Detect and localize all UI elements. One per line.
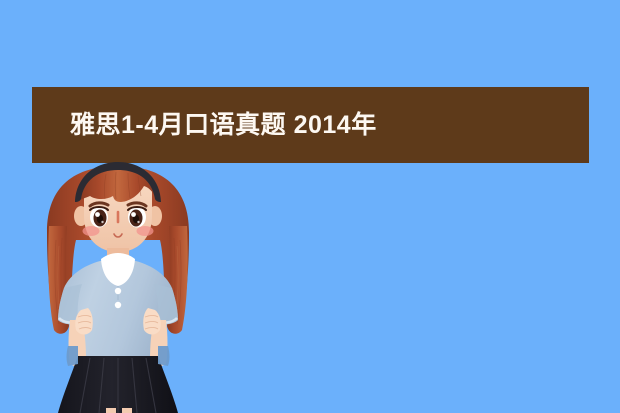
skirt [58, 356, 178, 413]
page-root: 雅思1-4月口语真题 2014年 [0, 0, 620, 413]
schoolgirl-illustration [18, 160, 218, 413]
page-title: 雅思1-4月口语真题 2014年 [32, 113, 377, 138]
title-banner: 雅思1-4月口语真题 2014年 [32, 87, 589, 163]
